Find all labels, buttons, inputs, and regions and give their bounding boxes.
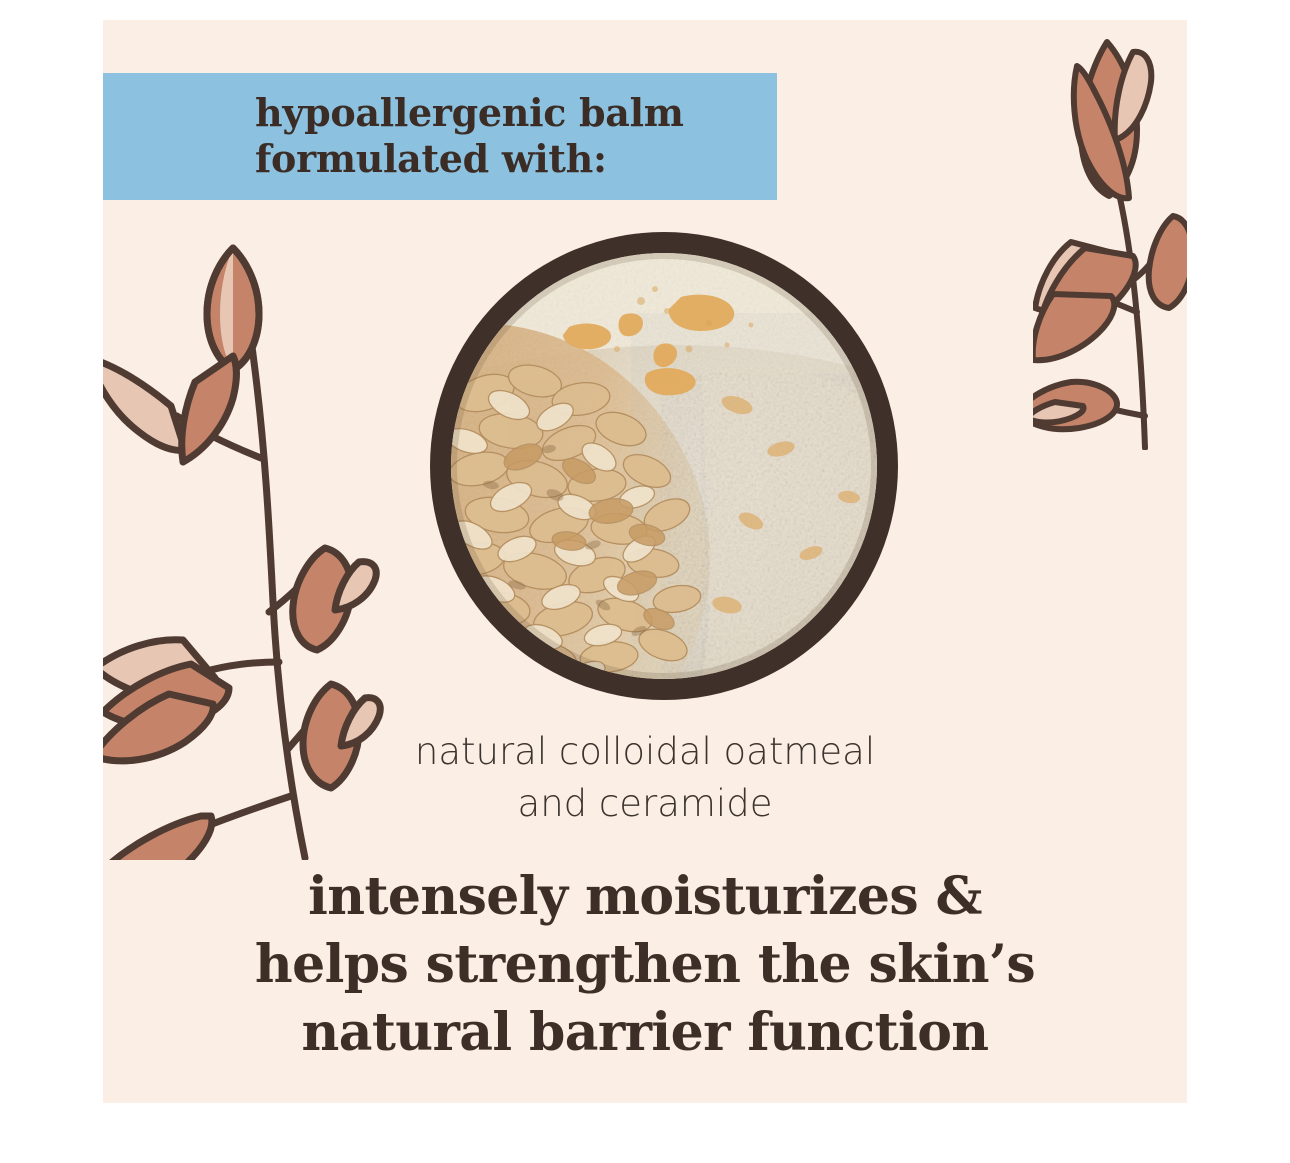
ingredient-photo-circle-frame <box>430 232 898 700</box>
caption-line-2: and ceramide <box>103 778 1187 830</box>
caption-line-1: natural colloidal oatmeal <box>103 726 1187 778</box>
banner-line-2: formulated with: <box>255 136 777 182</box>
colloidal-oatmeal-photo <box>451 253 877 679</box>
headline-line-1: intensely moisturizes & <box>103 863 1187 931</box>
oat-sprig-right-icon <box>1033 30 1187 450</box>
headline-line-2: helps strengthen the skin’s <box>103 931 1187 999</box>
cream-panel: hypoallergenic balm formulated with: <box>103 20 1187 1103</box>
banner-line-1: hypoallergenic balm <box>255 90 777 136</box>
headline-line-3: natural barrier function <box>103 999 1187 1067</box>
product-benefit-infographic: hypoallergenic balm formulated with: <box>0 0 1290 1163</box>
ingredient-caption: natural colloidal oatmeal and ceramide <box>103 726 1187 830</box>
benefit-headline: intensely moisturizes & helps strengthen… <box>103 863 1187 1067</box>
banner-hypoallergenic: hypoallergenic balm formulated with: <box>103 73 777 200</box>
